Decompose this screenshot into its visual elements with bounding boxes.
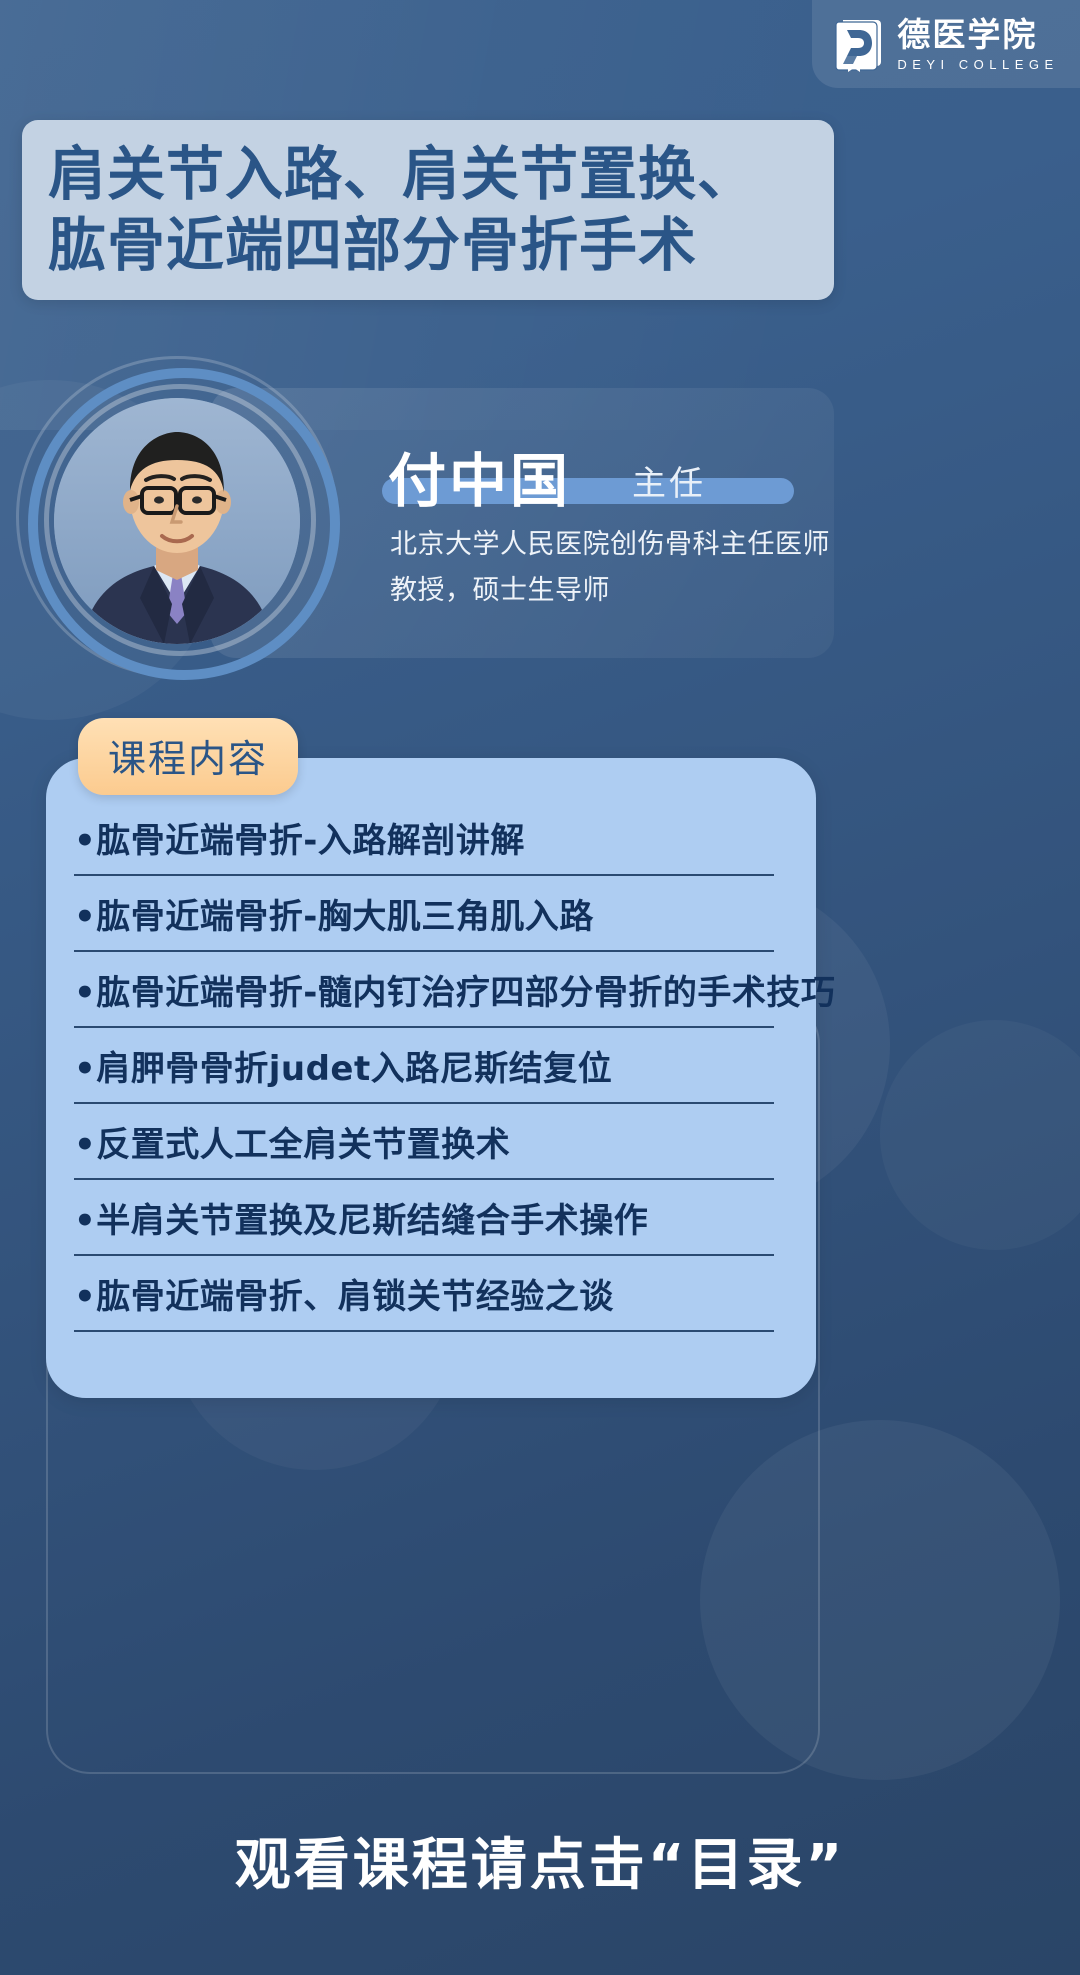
presenter-role: 主任 bbox=[632, 456, 706, 505]
presenter-name: 付中国 bbox=[388, 434, 571, 518]
course-item-text: •肩胛骨骨折judet入路尼斯结复位 bbox=[74, 1041, 612, 1090]
course-list: •肱骨近端骨折-入路解剖讲解 •肱骨近端骨折-胸大肌三角肌入路 •肱骨近端骨折-… bbox=[74, 800, 774, 1332]
title-line-2: 肱骨近端四部分骨折手术 bbox=[48, 210, 808, 281]
title-line-1: 肩关节入路、肩关节置换、 bbox=[48, 139, 808, 210]
list-item[interactable]: •肱骨近端骨折-入路解剖讲解 bbox=[74, 800, 774, 876]
list-item[interactable]: •反置式人工全肩关节置换术 bbox=[74, 1104, 774, 1180]
list-item[interactable]: •肱骨近端骨折、肩锁关节经验之谈 bbox=[74, 1256, 774, 1332]
course-content-badge: 课程内容 bbox=[78, 718, 298, 795]
list-item[interactable]: •半肩关节置换及尼斯结缝合手术操作 bbox=[74, 1180, 774, 1256]
brand-logo: 德医学院 DEYI COLLEGE bbox=[812, 0, 1080, 88]
course-item-text: •肱骨近端骨折-入路解剖讲解 bbox=[74, 813, 525, 862]
presenter-credential-line-1: 北京大学人民医院创伤骨科主任医师 bbox=[390, 522, 830, 561]
course-item-text: •半肩关节置换及尼斯结缝合手术操作 bbox=[74, 1193, 648, 1242]
list-item[interactable]: •肩胛骨骨折judet入路尼斯结复位 bbox=[74, 1028, 774, 1104]
presenter-credential-line-2: 教授，硕士生导师 bbox=[390, 568, 610, 607]
page-title: 肩关节入路、肩关节置换、 肱骨近端四部分骨折手术 bbox=[22, 120, 834, 300]
course-item-text: •肱骨近端骨折、肩锁关节经验之谈 bbox=[74, 1269, 614, 1318]
course-item-text: •肱骨近端骨折-髓内钉治疗四部分骨折的手术技巧 bbox=[74, 965, 835, 1014]
course-content-label: 课程内容 bbox=[108, 737, 268, 781]
course-item-text: •反置式人工全肩关节置换术 bbox=[74, 1117, 510, 1166]
footer-cta: 观看课程请点击“目录” bbox=[0, 1820, 1080, 1901]
list-item[interactable]: •肱骨近端骨折-胸大肌三角肌入路 bbox=[74, 876, 774, 952]
logo-text-cn: 德医学院 bbox=[897, 18, 1037, 51]
avatar bbox=[54, 398, 300, 644]
logo-text-en: DEYI COLLEGE bbox=[897, 58, 1058, 71]
course-item-text: •肱骨近端骨折-胸大肌三角肌入路 bbox=[74, 889, 594, 938]
book-d-icon bbox=[833, 16, 885, 72]
list-item[interactable]: •肱骨近端骨折-髓内钉治疗四部分骨折的手术技巧 bbox=[74, 952, 774, 1028]
